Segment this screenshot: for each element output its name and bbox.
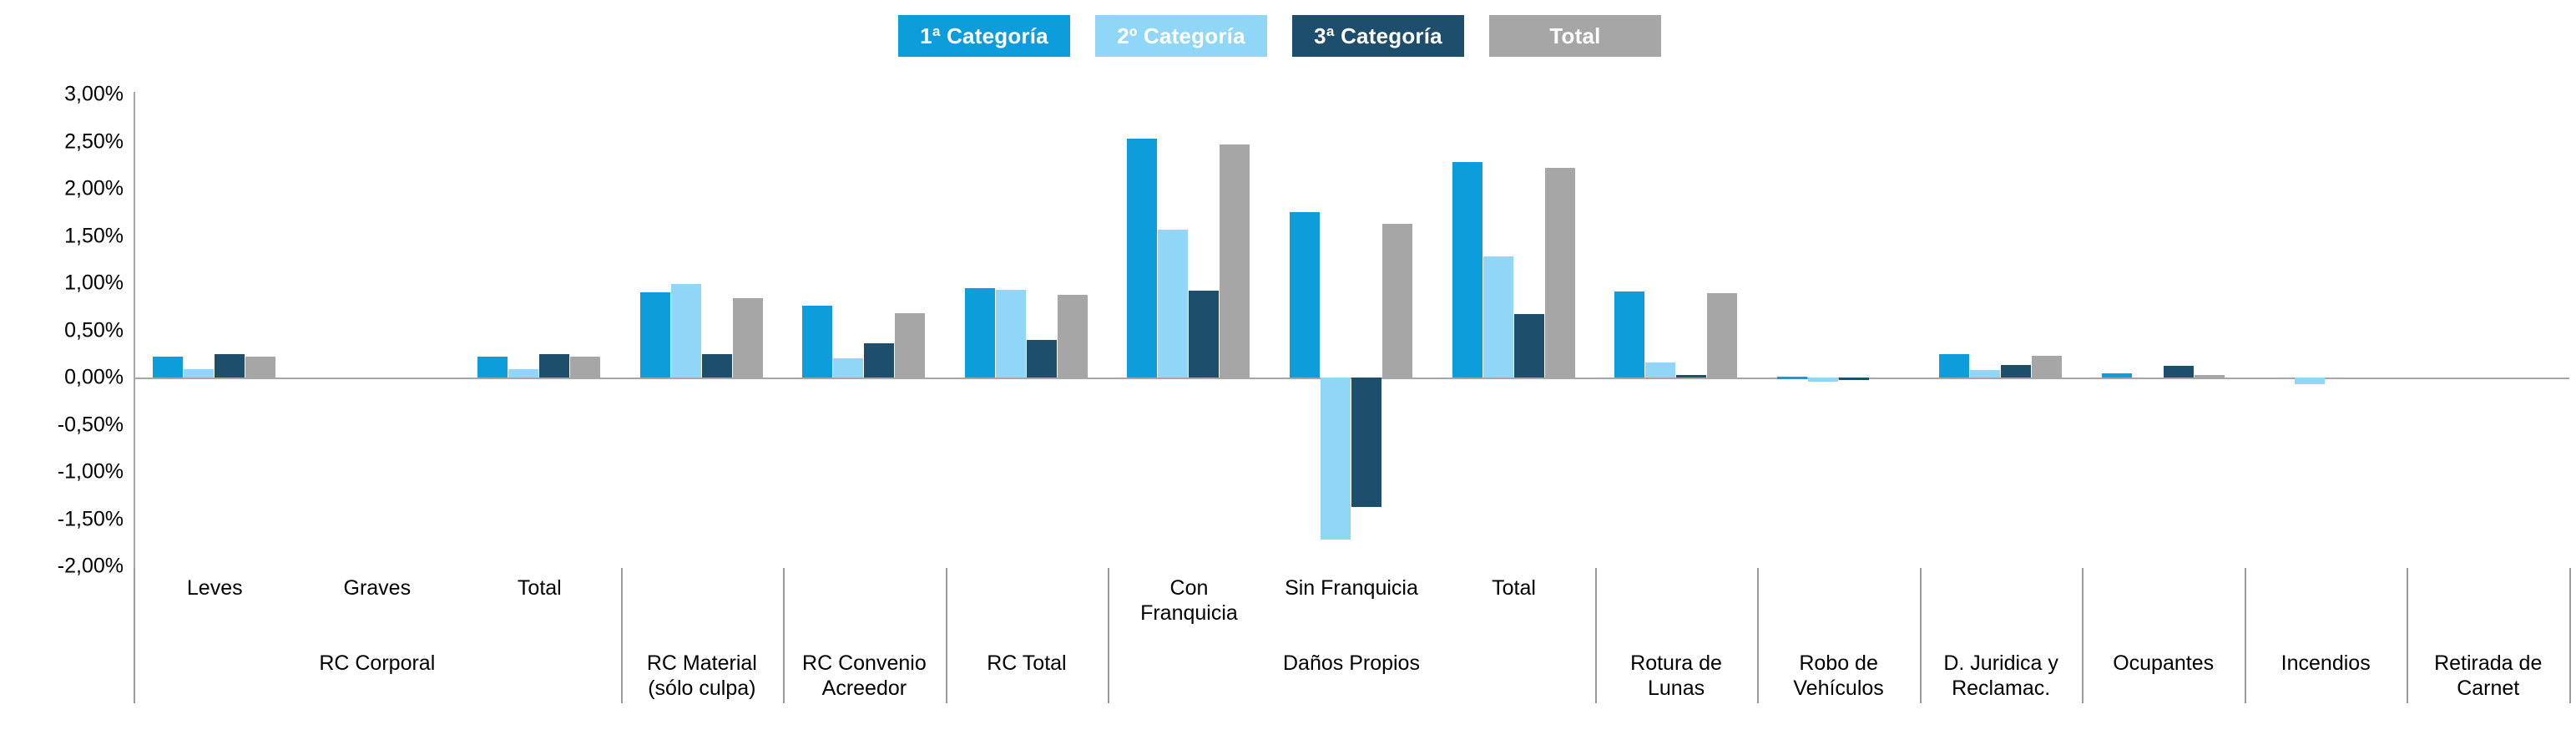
bar (1127, 139, 1157, 378)
bar (215, 354, 245, 378)
group-label: RC Total (946, 651, 1109, 677)
bar (2032, 356, 2062, 378)
bar (1290, 212, 1320, 378)
bar (1777, 377, 1807, 379)
group-label: Rotura de Lunas (1595, 651, 1758, 701)
bar (1808, 378, 1838, 382)
sub-category-label: Con Franquicia (1108, 576, 1270, 626)
bar (2001, 365, 2031, 378)
bar (2164, 366, 2194, 378)
bar (996, 290, 1026, 378)
bar (1614, 291, 1644, 378)
bar (671, 284, 701, 378)
group-label: RC Corporal (134, 651, 621, 677)
bar (702, 354, 732, 378)
bar (1707, 293, 1737, 378)
group-separator (2245, 568, 2246, 703)
bar (1382, 224, 1412, 378)
bar (1839, 378, 1869, 380)
bar (1452, 162, 1482, 378)
group-separator (2569, 568, 2571, 703)
group-label: Daños Propios (1108, 651, 1595, 677)
bar (1676, 375, 1706, 378)
sub-category-label: Graves (296, 576, 459, 601)
sub-category-label: Total (1432, 576, 1595, 601)
bar (2195, 375, 2225, 378)
group-label: D. Juridica y Reclamac. (1920, 651, 2083, 701)
bar (833, 358, 863, 378)
bar (2102, 373, 2132, 378)
bar (508, 369, 538, 378)
bar (1514, 314, 1544, 378)
group-label: RC Convenio Acreedor (783, 651, 946, 701)
group-label: Ocupantes (2082, 651, 2245, 677)
bar (965, 288, 995, 378)
bar (1351, 378, 1381, 507)
bar (1321, 378, 1351, 540)
group-label: Incendios (2245, 651, 2407, 677)
group-label: Robo de Vehículos (1757, 651, 1920, 701)
category-axis: LevesGravesTotalCon FranquiciaSin Franqu… (134, 568, 2569, 735)
bar (1939, 354, 1969, 378)
bar (539, 354, 569, 378)
bar (1158, 230, 1188, 378)
bar (570, 357, 600, 378)
group-label: Retirada de Carnet (2407, 651, 2569, 701)
chart-page: 1ª Categoría2º Categoría3ª CategoríaTota… (0, 0, 2576, 735)
sub-category-label: Leves (134, 576, 296, 601)
bar (640, 292, 670, 378)
bar (1189, 291, 1219, 378)
bar (245, 357, 275, 378)
bar (1027, 340, 1057, 378)
sub-category-label: Sin Franquicia (1270, 576, 1433, 601)
group-label: RC Material (sólo culpa) (621, 651, 784, 701)
bar (1545, 168, 1575, 378)
bar (2295, 378, 2325, 384)
bar (1483, 256, 1513, 378)
group-separator (946, 568, 947, 703)
bar (864, 343, 894, 378)
bar (1220, 144, 1250, 378)
bar (1645, 362, 1675, 378)
bar (153, 357, 183, 378)
sub-category-label: Total (458, 576, 621, 601)
bar (895, 313, 925, 378)
bar (477, 357, 508, 378)
bar (802, 306, 832, 378)
group-separator (2082, 568, 2084, 703)
bar (733, 298, 763, 378)
bar (184, 369, 214, 378)
bar (1058, 295, 1088, 378)
bar (1970, 370, 2000, 378)
